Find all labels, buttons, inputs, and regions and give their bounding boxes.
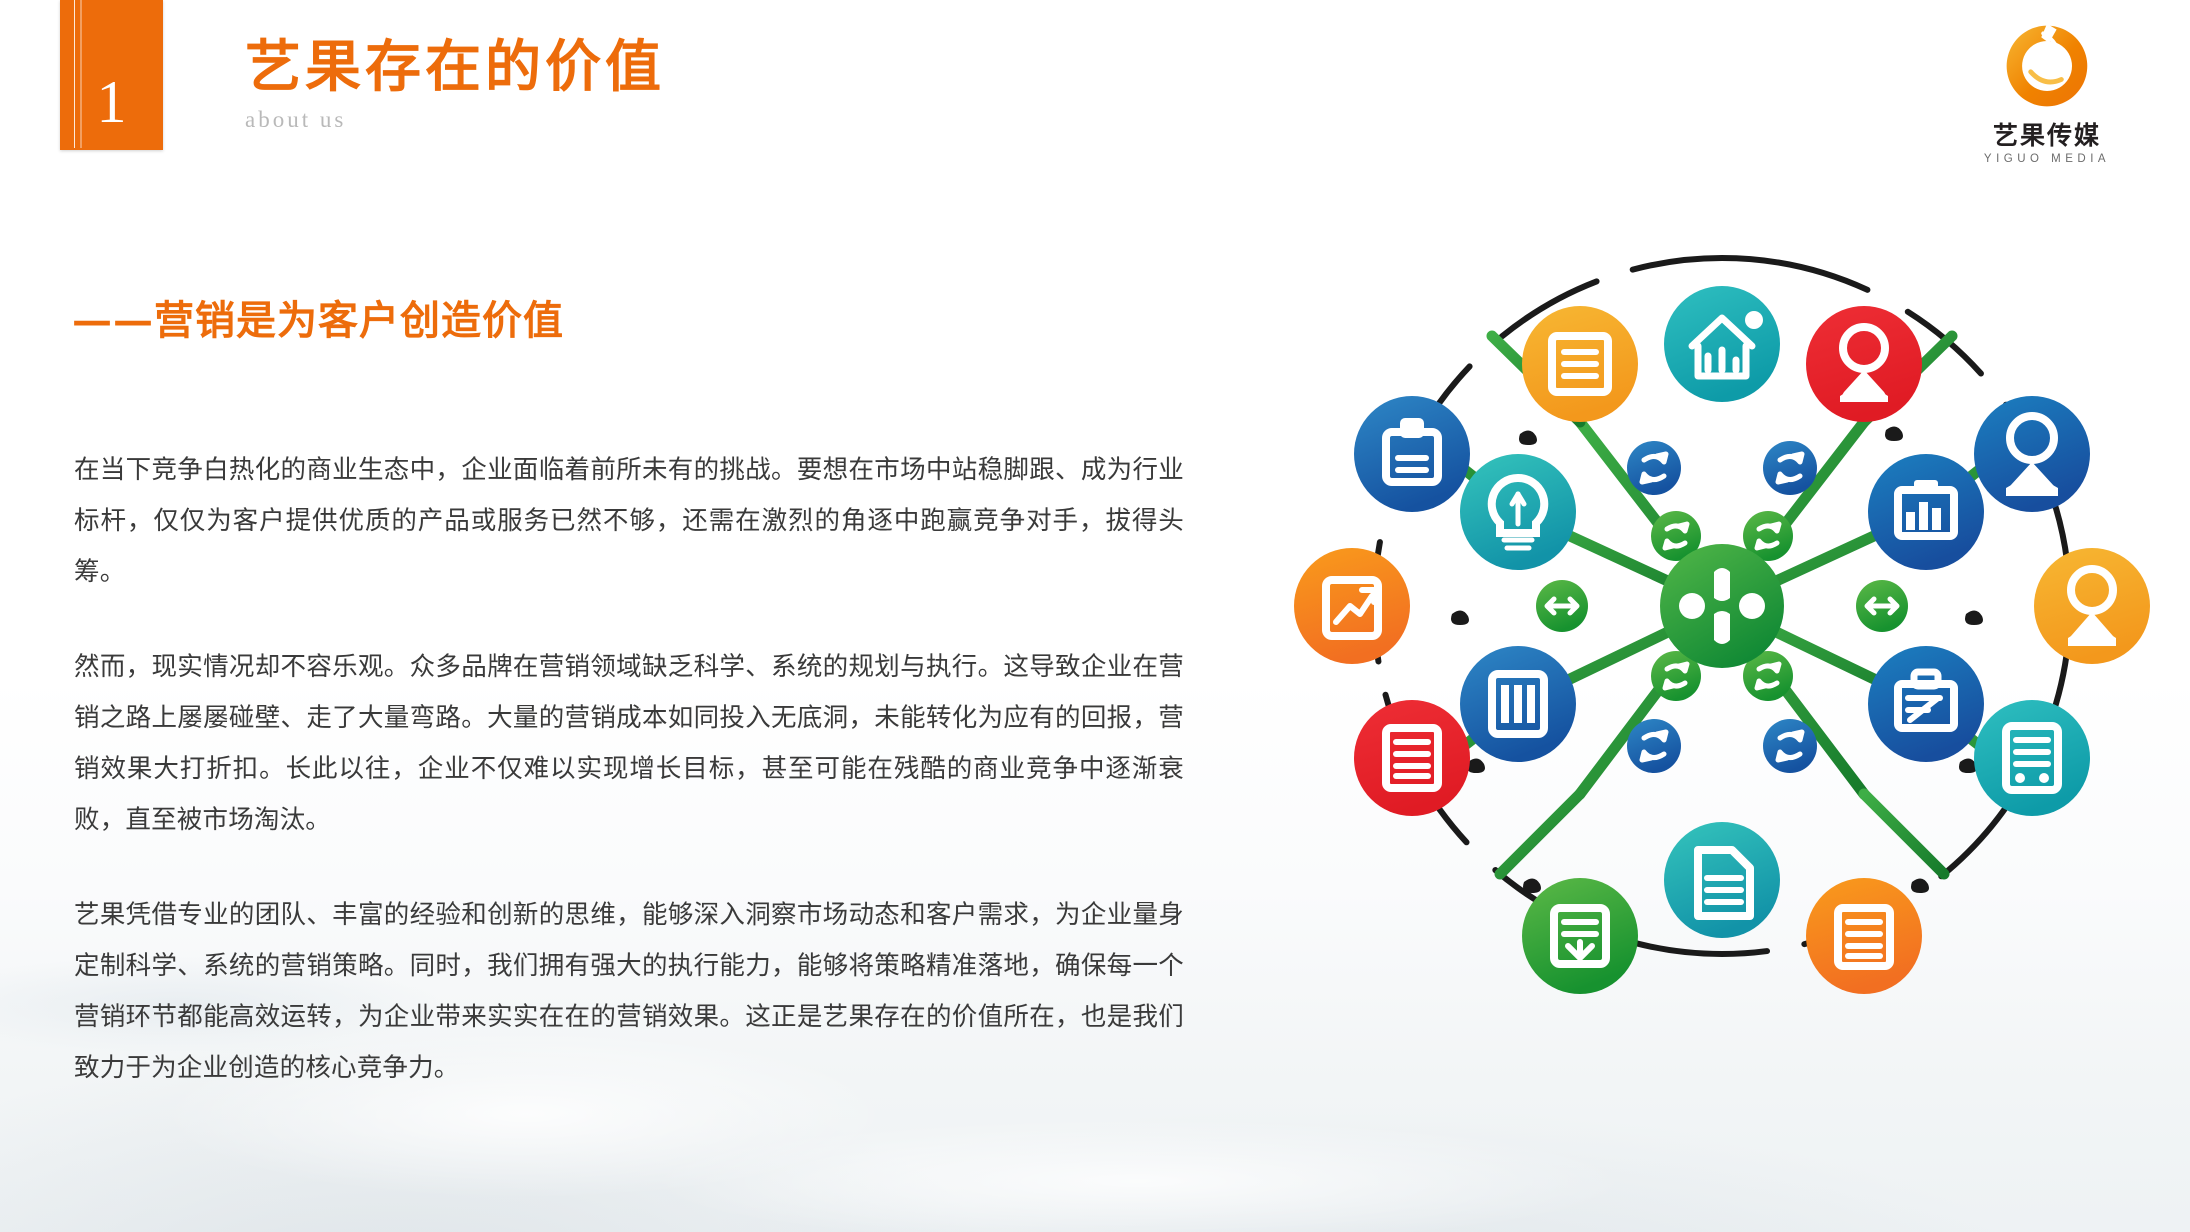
logo-name-en: YIGUO MEDIA: [1952, 153, 2142, 165]
slide-background: 1 艺果存在的价值 about us 艺果传媒 YIGUO MEDIA ——营销…: [0, 0, 2190, 1232]
brand-logo: 艺果传媒 YIGUO MEDIA: [1952, 18, 2142, 165]
node-server-list[interactable]: [1974, 700, 2090, 816]
content-subheading: ——营销是为客户创造价值: [72, 288, 564, 346]
paragraph-1: 在当下竞争白热化的商业生态中，企业面临着前所未有的挑战。要想在市场中站稳脚跟、成…: [74, 445, 1184, 598]
connector-bidirectional-arrow-left: [1536, 580, 1588, 632]
page-title: 艺果存在的价值: [245, 38, 665, 97]
connector-exchange-arrow-7: [1627, 719, 1681, 773]
node-file-lines[interactable]: [1664, 822, 1780, 938]
node-user-pin[interactable]: [1806, 306, 1922, 422]
node-document-orange[interactable]: [1806, 878, 1922, 994]
infographic-svg: [1262, 206, 2182, 1066]
node-columns-doc[interactable]: [1460, 646, 1576, 762]
connector-exchange-arrow-8: [1763, 719, 1817, 773]
body-copy: 在当下竞争白热化的商业生态中，企业面临着前所未有的挑战。要想在市场中站稳脚跟、成…: [74, 445, 1184, 1094]
section-number-badge: 1: [60, 0, 163, 150]
hub-node[interactable]: [1660, 544, 1784, 668]
logo-name-zh: 艺果传媒: [1952, 116, 2142, 152]
section-number: 1: [60, 72, 163, 132]
logo-ring-icon: [1999, 18, 2095, 114]
node-lightbulb[interactable]: [1460, 454, 1576, 570]
connector-bidirectional-arrow-right: [1856, 580, 1908, 632]
paragraph-3: 艺果凭借专业的团队、丰富的经验和创新的思维，能够深入洞察市场动态和客户需求，为企…: [74, 890, 1184, 1094]
node-briefcase-edit[interactable]: [1868, 646, 1984, 762]
network-hub-infographic: [1262, 206, 2182, 1066]
node-user-circle[interactable]: [2034, 548, 2150, 664]
node-document-lines[interactable]: [1522, 306, 1638, 422]
page-header: 艺果存在的价值 about us: [245, 38, 665, 133]
paragraph-2: 然而，现实情况却不容乐观。众多品牌在营销领域缺乏科学、系统的规划与执行。这导致企…: [74, 642, 1184, 846]
connector-exchange-arrow-1: [1627, 441, 1681, 495]
node-clipboard[interactable]: [1354, 396, 1470, 512]
page-subtitle-en: about us: [245, 107, 665, 133]
node-user-badge[interactable]: [1974, 396, 2090, 512]
node-document-red[interactable]: [1354, 700, 1470, 816]
node-home-growth[interactable]: [1664, 286, 1780, 402]
node-checklist-download[interactable]: [1522, 878, 1638, 994]
connector-exchange-arrow-2: [1763, 441, 1817, 495]
node-presentation-chart[interactable]: [1294, 548, 1410, 664]
node-bar-chart-case[interactable]: [1868, 454, 1984, 570]
